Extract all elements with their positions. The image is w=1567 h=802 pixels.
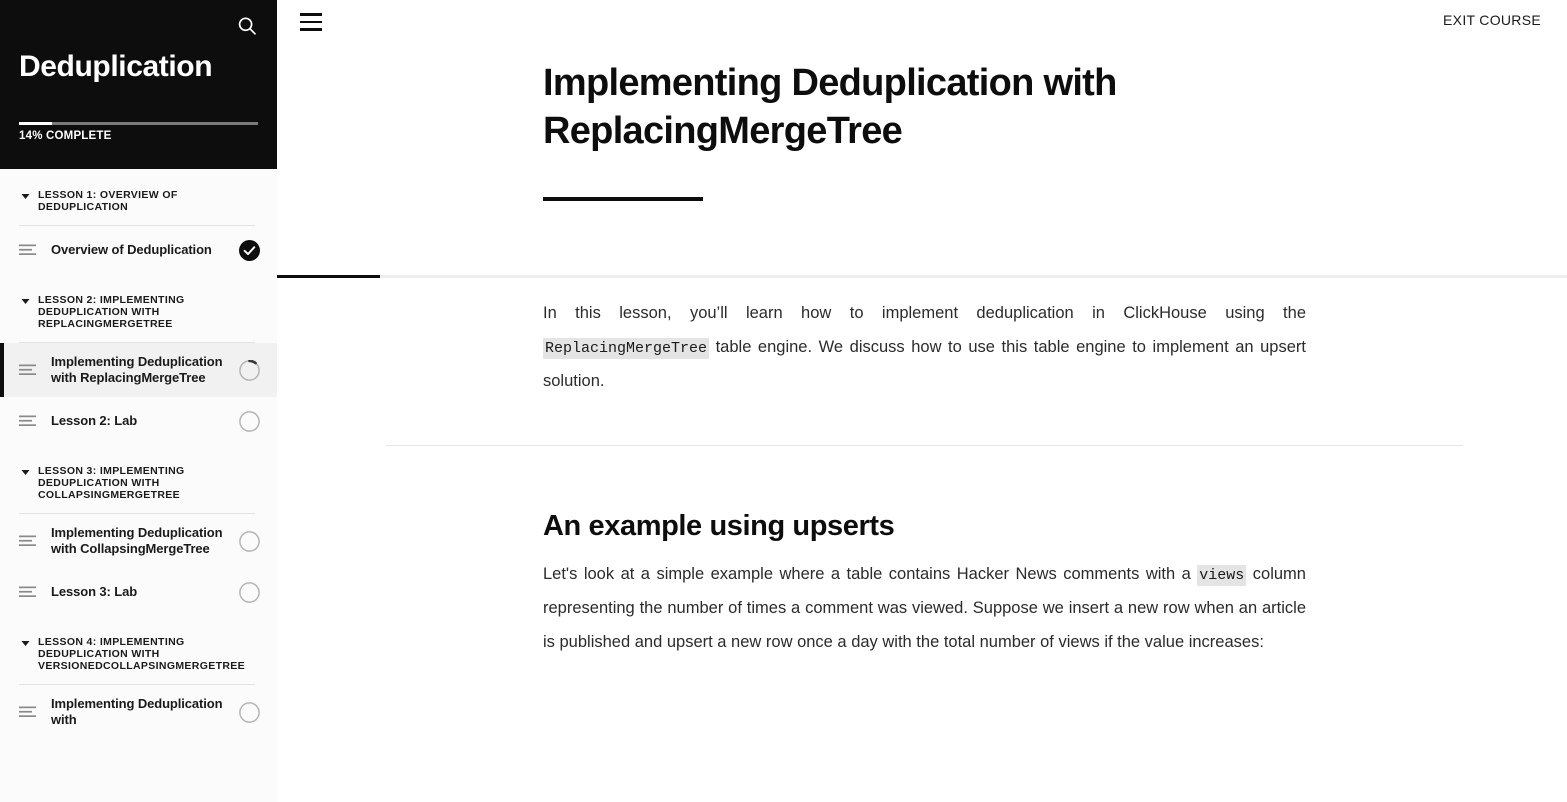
lesson-lines-icon xyxy=(19,535,37,547)
page-title: Implementing Deduplication with Replacin… xyxy=(543,59,1243,155)
lesson-group-label: LESSON 3: IMPLEMENTING DEDUPLICATION WIT… xyxy=(38,465,255,501)
course-player: Deduplication 14% COMPLETE LESSON 1: OVE… xyxy=(0,0,1567,802)
section-paragraph: Let's look at a simple example where a t… xyxy=(543,558,1306,660)
chevron-down-icon[interactable] xyxy=(21,193,30,200)
lesson-group-label: LESSON 1: OVERVIEW OF DEDUPLICATION xyxy=(38,189,255,213)
lesson-lines-icon xyxy=(19,244,37,256)
course-title: Deduplication xyxy=(19,48,212,86)
lesson-group-header-1[interactable]: LESSON 1: OVERVIEW OF DEDUPLICATION xyxy=(0,169,277,213)
sidebar-header: Deduplication 14% COMPLETE xyxy=(0,0,277,169)
chevron-down-icon[interactable] xyxy=(21,469,30,476)
lesson-item-label: Lesson 2: Lab xyxy=(51,413,238,429)
lesson-lines-icon xyxy=(19,706,37,718)
lesson-group-header-2[interactable]: LESSON 2: IMPLEMENTING DEDUPLICATION WIT… xyxy=(0,274,277,330)
chevron-down-icon[interactable] xyxy=(21,640,30,647)
section-divider xyxy=(386,445,1463,446)
lesson-status-incomplete-icon[interactable] xyxy=(238,530,260,552)
lesson-group-header-4[interactable]: LESSON 4: IMPLEMENTING DEDUPLICATION WIT… xyxy=(0,616,277,672)
lesson-lines-icon xyxy=(19,586,37,598)
lesson-item[interactable]: Implementing Deduplication with xyxy=(0,685,277,739)
lesson-group-label: LESSON 4: IMPLEMENTING DEDUPLICATION WIT… xyxy=(38,636,255,672)
main-content: EXIT COURSE Implementing Deduplication w… xyxy=(277,0,1567,802)
lesson-item[interactable]: Implementing Deduplication with Collapsi… xyxy=(0,514,277,568)
lesson-item-label: Lesson 3: Lab xyxy=(51,584,238,600)
lesson-status-in-progress-icon[interactable] xyxy=(238,359,260,381)
chevron-down-icon[interactable] xyxy=(21,298,30,305)
top-bar: EXIT COURSE xyxy=(277,0,1567,47)
hamburger-menu-icon[interactable] xyxy=(300,13,322,31)
lesson-item[interactable]: Overview of Deduplication xyxy=(0,226,277,274)
lesson-group-label: LESSON 2: IMPLEMENTING DEDUPLICATION WIT… xyxy=(38,294,255,330)
lesson-lines-icon xyxy=(19,364,37,376)
lesson-list[interactable]: LESSON 1: OVERVIEW OF DEDUPLICATIONOverv… xyxy=(0,169,277,802)
lesson-group-header-3[interactable]: LESSON 3: IMPLEMENTING DEDUPLICATION WIT… xyxy=(0,445,277,501)
lesson-item-label: Implementing Deduplication with Collapsi… xyxy=(51,525,238,557)
lesson-lines-icon xyxy=(19,415,37,427)
course-progress-label: 14% COMPLETE xyxy=(19,130,112,142)
intro-text-before: In this lesson, you’ll learn how to impl… xyxy=(543,304,1306,322)
lesson-item[interactable]: Lesson 3: Lab xyxy=(0,568,277,616)
lesson-status-incomplete-icon[interactable] xyxy=(238,701,260,723)
lesson-item-label: Overview of Deduplication xyxy=(51,242,238,258)
lesson-status-incomplete-icon[interactable] xyxy=(238,581,260,603)
lesson-item-active[interactable]: Implementing Deduplication with Replacin… xyxy=(0,343,277,397)
exit-course-button[interactable]: EXIT COURSE xyxy=(1443,12,1541,28)
section-heading: An example using upserts xyxy=(543,508,1306,544)
lesson-status-incomplete-icon[interactable] xyxy=(238,410,260,432)
code-views: views xyxy=(1197,565,1246,586)
content-body: In this lesson, you’ll learn how to impl… xyxy=(277,297,1567,802)
course-progress-bar xyxy=(19,122,258,125)
content-progress-bar xyxy=(277,275,1567,278)
section-text-before: Let's look at a simple example where a t… xyxy=(543,565,1197,583)
code-replacingmergetree: ReplacingMergeTree xyxy=(543,338,709,359)
intro-paragraph: In this lesson, you’ll learn how to impl… xyxy=(543,297,1306,399)
lesson-item-label: Implementing Deduplication with xyxy=(51,696,238,728)
course-sidebar: Deduplication 14% COMPLETE LESSON 1: OVE… xyxy=(0,0,277,802)
search-icon[interactable] xyxy=(234,13,260,39)
title-underline-rule xyxy=(543,197,703,201)
lesson-item-label: Implementing Deduplication with Replacin… xyxy=(51,354,238,386)
lesson-status-complete-icon[interactable] xyxy=(238,239,260,261)
course-progress-fill xyxy=(19,122,52,125)
content-progress-fill xyxy=(277,275,380,278)
lesson-item[interactable]: Lesson 2: Lab xyxy=(0,397,277,445)
